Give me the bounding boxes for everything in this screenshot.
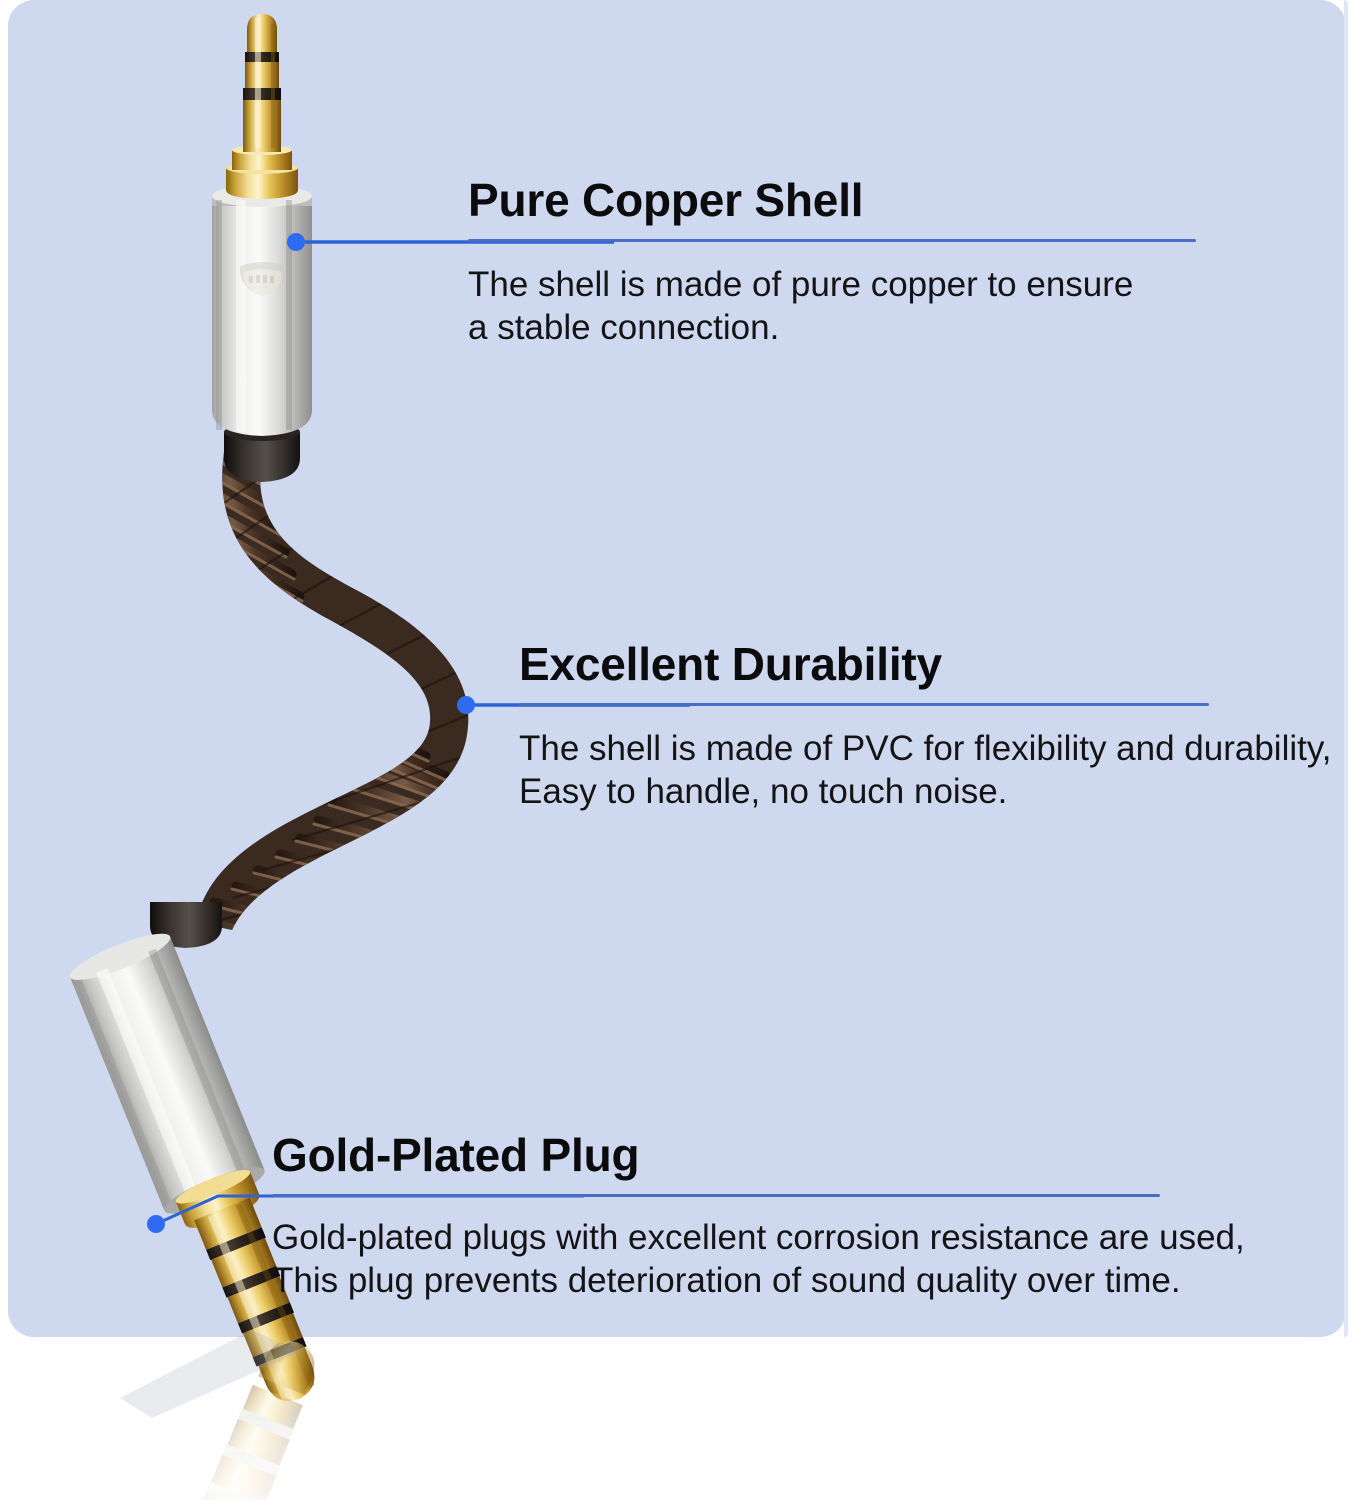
callout-3-title: Gold-Plated Plug (272, 1128, 1245, 1182)
plug-shadow (120, 1330, 300, 1418)
callout-gold-plated-plug: Gold-Plated Plug Gold-plated plugs with … (272, 1128, 1245, 1302)
panel-right-edge (1344, 0, 1348, 1337)
callout-2-title: Excellent Durability (519, 637, 1332, 691)
callout-1-title: Pure Copper Shell (468, 173, 1196, 227)
plug-reflection (176, 1328, 336, 1500)
product-infographic: Pure Copper Shell The shell is made of p… (0, 0, 1352, 1500)
callout-excellent-durability: Excellent Durability The shell is made o… (519, 637, 1332, 813)
callout-3-underline (272, 1194, 1160, 1197)
callout-2-body: The shell is made of PVC for flexibility… (519, 728, 1332, 813)
callout-1-underline (468, 239, 1196, 242)
callout-pure-copper-shell: Pure Copper Shell The shell is made of p… (468, 173, 1196, 349)
callout-1-body: The shell is made of pure copper to ensu… (468, 264, 1196, 349)
callout-3-body: Gold-plated plugs with excellent corrosi… (272, 1217, 1245, 1302)
callout-2-underline (519, 703, 1209, 706)
